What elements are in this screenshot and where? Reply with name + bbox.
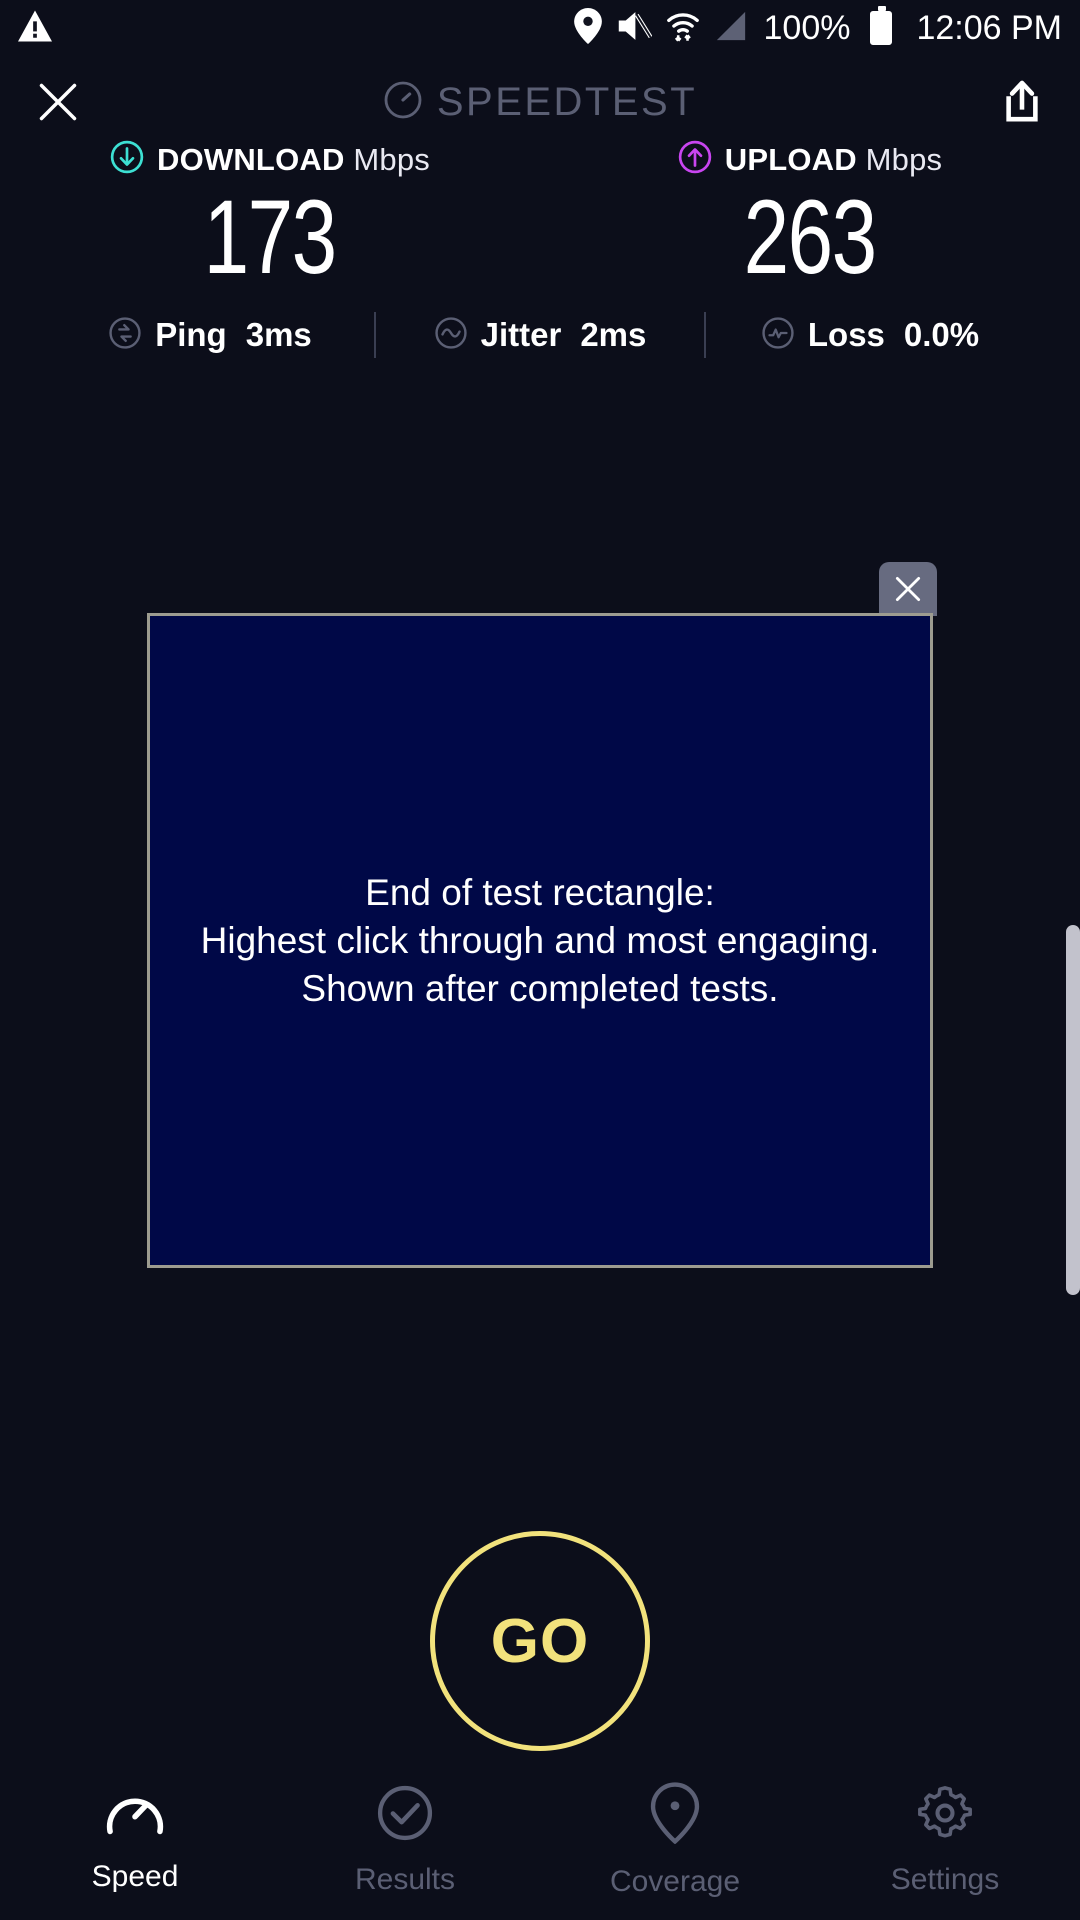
mute-icon [616, 10, 652, 47]
status-bar-right: 100% 12:06 PM [574, 8, 1063, 49]
network-quality-row: Ping 3ms Jitter 2ms [0, 312, 1080, 358]
upload-header: UPLOAD Mbps [678, 140, 943, 179]
jitter-icon [434, 316, 468, 355]
system-status-bar: 100% 12:06 PM [0, 0, 1080, 56]
speed-results-row: DOWNLOAD Mbps 173 UPLOAD Mbps 263 [0, 140, 1080, 290]
ad-text: End of test rectangle: Highest click thr… [150, 869, 930, 1013]
loss-metric: Loss 0.0% [706, 316, 1034, 355]
nav-item-results[interactable]: Results [270, 1784, 540, 1897]
download-arrow-icon [110, 140, 144, 179]
ping-icon [108, 316, 142, 355]
ad-line-3: Shown after completed tests. [160, 965, 920, 1013]
speedometer-icon [383, 80, 423, 125]
nav-item-settings[interactable]: Settings [810, 1784, 1080, 1897]
speedometer-icon [105, 1787, 165, 1844]
jitter-metric: Jitter 2ms [376, 316, 704, 355]
close-button[interactable] [28, 72, 88, 132]
nav-label-coverage: Coverage [610, 1865, 740, 1899]
nav-label-results: Results [355, 1863, 455, 1897]
wifi-icon [666, 9, 700, 48]
app-header: SPEEDTEST [0, 56, 1080, 148]
upload-arrow-icon [678, 140, 712, 179]
jitter-value: 2ms [580, 316, 646, 354]
go-button[interactable]: GO [430, 1531, 650, 1751]
download-value: 173 [204, 185, 336, 290]
ad-line-1: End of test rectangle: [160, 869, 920, 917]
location-pin-icon [574, 8, 602, 49]
scrollbar-thumb[interactable] [1066, 925, 1080, 1295]
gear-icon [916, 1784, 974, 1847]
close-icon [892, 573, 924, 605]
upload-unit: Mbps [866, 142, 943, 177]
nav-item-speed[interactable]: Speed [0, 1787, 270, 1894]
brand-logo: SPEEDTEST [383, 80, 697, 125]
ad-close-button[interactable] [879, 562, 937, 616]
status-bar-clock: 12:06 PM [916, 9, 1062, 48]
ping-value: 3ms [246, 316, 312, 354]
check-circle-icon [376, 1784, 434, 1847]
battery-percent-label: 100% [764, 9, 851, 48]
download-unit: Mbps [353, 142, 430, 177]
status-bar-left [16, 9, 54, 48]
ping-label: Ping [155, 316, 227, 354]
download-label: DOWNLOAD Mbps [157, 142, 430, 178]
loss-value: 0.0% [904, 316, 979, 354]
nav-item-coverage[interactable]: Coverage [540, 1782, 810, 1899]
ad-line-2: Highest click through and most engaging. [160, 917, 920, 965]
battery-full-icon [870, 11, 892, 45]
upload-value: 263 [744, 185, 876, 290]
close-icon [36, 80, 80, 124]
nav-label-settings: Settings [891, 1863, 999, 1897]
download-header: DOWNLOAD Mbps [110, 140, 430, 179]
brand-title: SPEEDTEST [437, 80, 697, 125]
results-panel: DOWNLOAD Mbps 173 UPLOAD Mbps 263 [0, 140, 1080, 358]
upload-label: UPLOAD Mbps [725, 142, 943, 178]
warning-triangle-icon [16, 9, 54, 48]
location-pin-icon [649, 1782, 701, 1849]
upload-metric: UPLOAD Mbps 263 [540, 140, 1080, 290]
go-button-label: GO [491, 1606, 589, 1677]
speedtest-app-screen: 100% 12:06 PM SPEEDTEST [0, 0, 1080, 1920]
share-icon [1001, 79, 1043, 125]
download-metric: DOWNLOAD Mbps 173 [0, 140, 540, 290]
share-button[interactable] [992, 72, 1052, 132]
ping-metric: Ping 3ms [46, 316, 374, 355]
bottom-navigation-bar: Speed Results Coverage [0, 1760, 1080, 1920]
loss-label: Loss [808, 316, 885, 354]
loss-icon [761, 316, 795, 355]
jitter-label: Jitter [481, 316, 562, 354]
advertisement-banner[interactable]: End of test rectangle: Highest click thr… [147, 613, 933, 1268]
nav-label-speed: Speed [92, 1860, 179, 1894]
cellular-signal-icon [714, 10, 748, 47]
